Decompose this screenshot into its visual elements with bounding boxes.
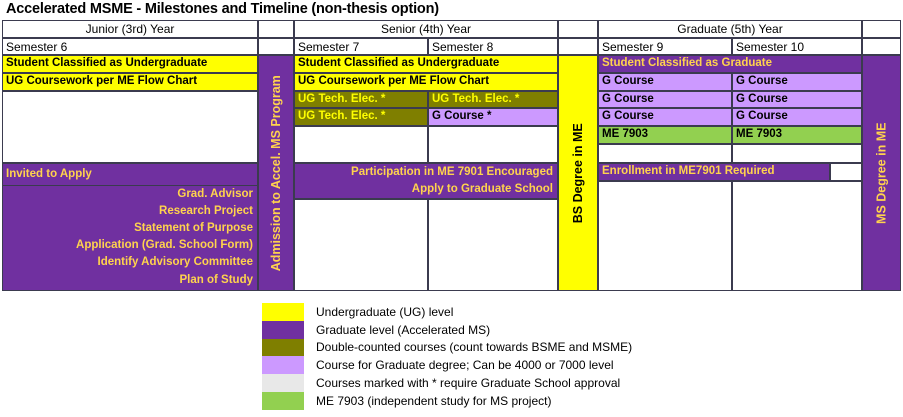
header-spacer-6	[862, 38, 901, 55]
legend-item: Undergraduate (UG) level	[262, 303, 902, 321]
header-graduate-year: Graduate (5th) Year	[598, 20, 862, 38]
sem9-course-row: G Course	[598, 73, 732, 91]
header-semester-7: Semester 7	[294, 38, 428, 55]
legend-item: Graduate level (Accelerated MS)	[262, 321, 902, 339]
sem10-blank-row	[732, 144, 862, 163]
sem7-course-row: UG Tech. Elec. *	[294, 108, 428, 126]
legend-item: Course for Graduate degree; Can be 4000 …	[262, 356, 902, 374]
senior-note-line-2: Apply to Graduate School	[294, 181, 558, 199]
page-title: Accelerated MSME - Milestones and Timeli…	[6, 0, 886, 18]
sem8-course-row: UG Tech. Elec. *	[428, 91, 558, 108]
header-spacer-4	[258, 38, 294, 55]
graduate-note-spacer	[830, 163, 862, 181]
junior-task: Application (Grad. School Form)	[2, 237, 258, 254]
legend-item: Courses marked with * require Graduate S…	[262, 374, 902, 392]
junior-task: Statement of Purpose	[2, 220, 258, 237]
band-ms-degree-in-me: MS Degree in ME	[862, 55, 901, 291]
header-semester-10: Semester 10	[732, 38, 862, 55]
band-bs-degree-label: BS Degree in ME	[572, 123, 585, 223]
header-senior-year: Senior (4th) Year	[294, 20, 558, 38]
sem7-lower-blank	[294, 199, 428, 291]
milestones-timeline-figure: Accelerated MSME - Milestones and Timeli…	[0, 0, 903, 417]
header-semester-9: Semester 9	[598, 38, 732, 55]
header-semester-6: Semester 6	[2, 38, 258, 55]
legend-swatch-olive	[262, 339, 304, 357]
junior-blank-block	[2, 91, 258, 163]
sem9-blank-row	[598, 144, 732, 163]
legend-item: Double-counted courses (count towards BS…	[262, 339, 902, 357]
senior-status: Student Classified as Undergraduate	[294, 55, 558, 73]
junior-coursework: UG Coursework per ME Flow Chart	[2, 73, 258, 91]
legend-label: Graduate level (Accelerated MS)	[304, 324, 490, 336]
sem10-course-row: G Course	[732, 108, 862, 126]
graduate-note: Enrollment in ME7901 Required	[598, 163, 830, 181]
legend-label: Double-counted courses (count towards BS…	[304, 341, 632, 353]
sem10-course-row: G Course	[732, 73, 862, 91]
graduate-status: Student Classified as Graduate	[598, 55, 862, 73]
sem9-course-row: G Course	[598, 91, 732, 108]
header-spacer-1	[258, 20, 294, 38]
legend-swatch-purple	[262, 321, 304, 339]
sem8-blank-block	[428, 126, 558, 163]
sem9-course-row: G Course	[598, 108, 732, 126]
legend-swatch-light-gray	[262, 374, 304, 392]
sem7-blank-block	[294, 126, 428, 163]
junior-task: Research Project	[2, 203, 258, 220]
legend-label: ME 7903 (independent study for MS projec…	[304, 395, 551, 407]
legend-label: Course for Graduate degree; Can be 4000 …	[304, 359, 614, 371]
sem10-course-row: ME 7903	[732, 126, 862, 144]
band-admission-label: Admission to Accel. MS Program	[270, 75, 283, 271]
junior-status: Student Classified as Undergraduate	[2, 55, 258, 73]
legend-swatch-yellow	[262, 303, 304, 321]
legend-label: Courses marked with * require Graduate S…	[304, 377, 620, 389]
sem8-lower-blank	[428, 199, 558, 291]
senior-coursework: UG Coursework per ME Flow Chart	[294, 73, 558, 91]
junior-invited: Invited to Apply	[2, 163, 258, 186]
legend-item: ME 7903 (independent study for MS projec…	[262, 392, 902, 410]
legend: Undergraduate (UG) level Graduate level …	[262, 303, 902, 415]
sem9-lower-blank	[598, 181, 732, 291]
sem9-course-row: ME 7903	[598, 126, 732, 144]
sem8-course-row: G Course *	[428, 108, 558, 126]
junior-task: Plan of Study	[2, 271, 258, 291]
sem10-lower-blank	[732, 181, 862, 291]
junior-task: Identify Advisory Committee	[2, 254, 258, 271]
header-spacer-3	[862, 20, 901, 38]
header-spacer-2	[558, 20, 598, 38]
band-admission-to-accel-ms: Admission to Accel. MS Program	[258, 55, 294, 291]
senior-note-line-1: Participation in ME 7901 Encouraged	[294, 163, 558, 181]
legend-swatch-green	[262, 392, 304, 410]
junior-task: Grad. Advisor	[2, 186, 258, 203]
sem7-course-row: UG Tech. Elec. *	[294, 91, 428, 108]
header-semester-8: Semester 8	[428, 38, 558, 55]
header-junior-year: Junior (3rd) Year	[2, 20, 258, 38]
header-spacer-5	[558, 38, 598, 55]
legend-swatch-light-purple	[262, 356, 304, 374]
band-bs-degree-in-me: BS Degree in ME	[558, 55, 598, 291]
legend-label: Undergraduate (UG) level	[304, 306, 453, 318]
band-ms-degree-label: MS Degree in ME	[875, 122, 888, 223]
sem10-course-row: G Course	[732, 91, 862, 108]
